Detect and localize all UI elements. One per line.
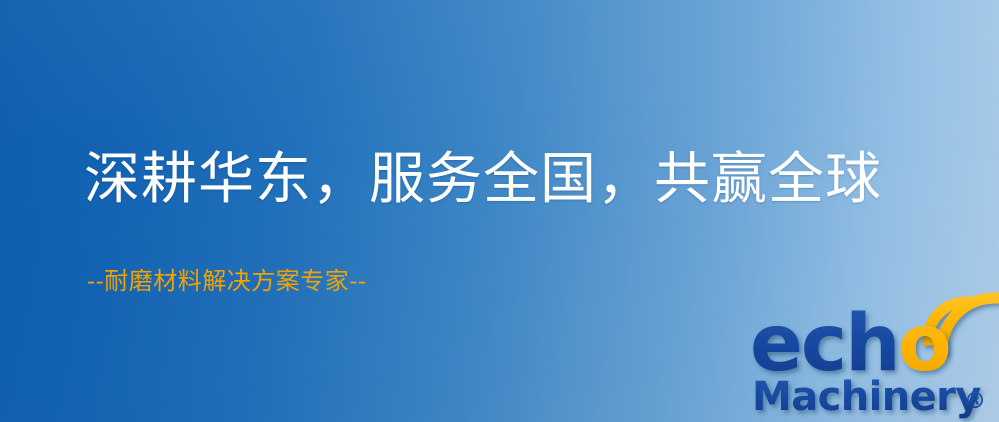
hero-banner: 深耕华东，服务全国，共赢全球 --耐磨材料解决方案专家-- (0, 0, 999, 422)
banner-subtitle: --耐磨材料解决方案专家-- (87, 268, 366, 294)
logo-registered-mark: ® (964, 389, 986, 414)
logo-tagline: Machinery (752, 374, 981, 420)
echo-machinery-logo[interactable]: ech o Machinery ® (746, 292, 999, 422)
banner-headline: 深耕华东，服务全国，共赢全球 (84, 150, 882, 210)
